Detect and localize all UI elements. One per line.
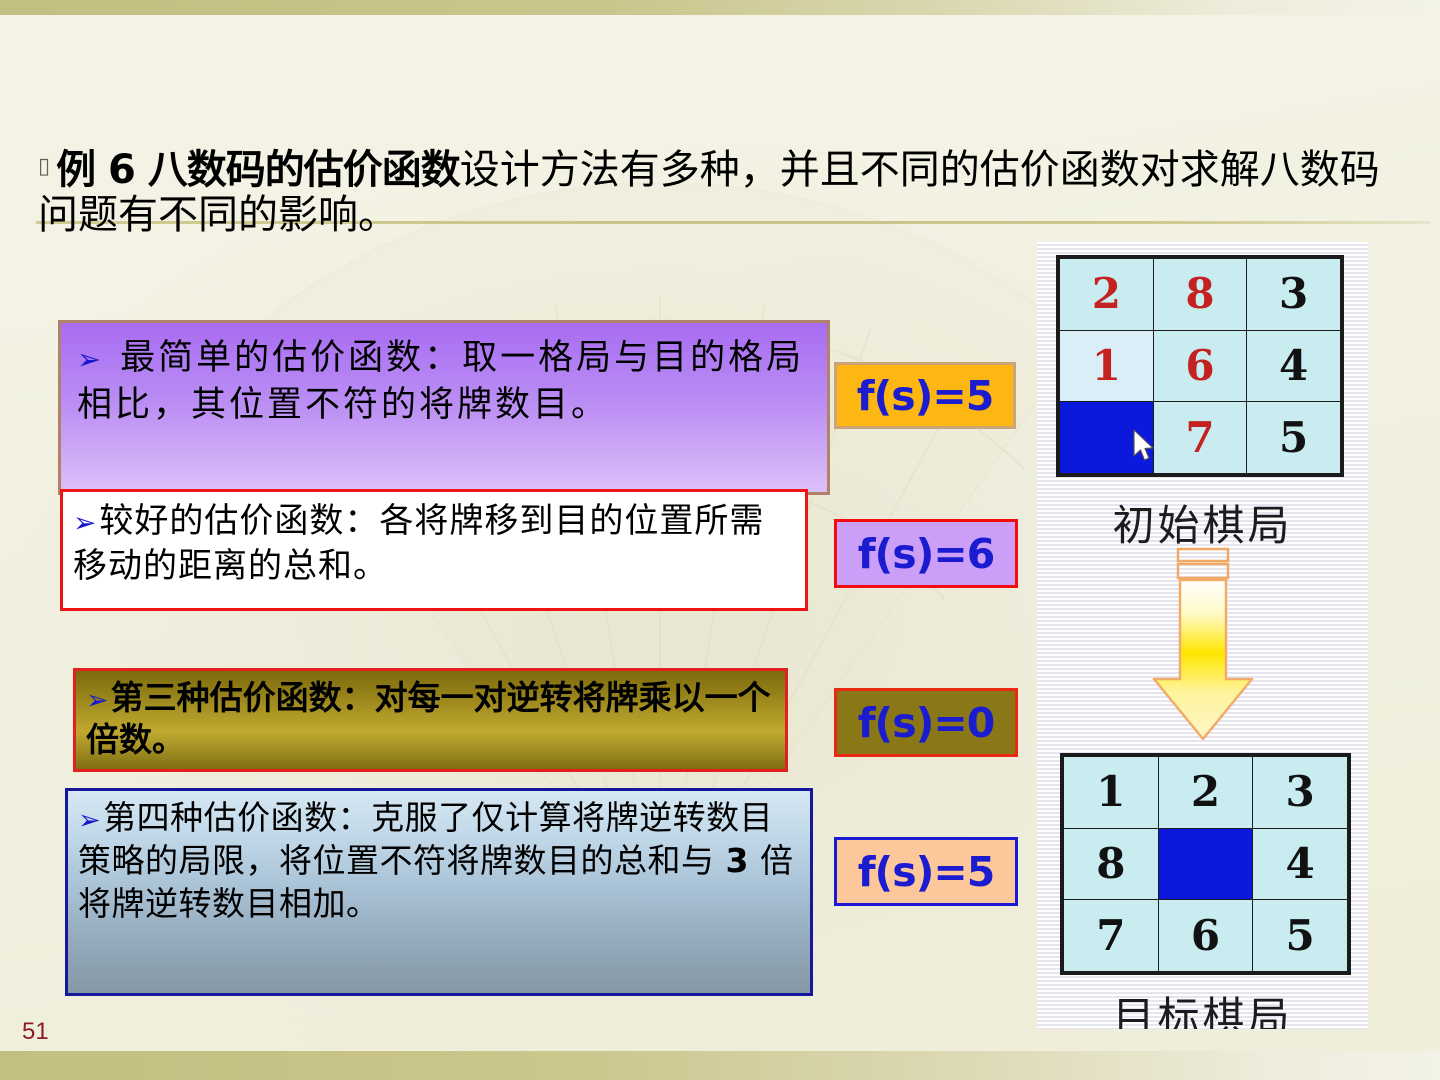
- puzzle-cell: 7: [1154, 402, 1247, 473]
- puzzle-cell: 6: [1154, 331, 1247, 402]
- initial-state-grid: 2 8 3 1 6 4 7 5: [1056, 255, 1344, 477]
- puzzle-cell: 4: [1253, 829, 1347, 900]
- puzzle-cell: 8: [1154, 259, 1247, 330]
- heuristic-box-4-text-a: 第四种估价函数：克服了仅计算将牌逆转数目策略的局限，将位置不符将牌数目的总和与: [78, 798, 773, 880]
- puzzle-cell: 1: [1060, 331, 1153, 402]
- initial-state-caption: 初始棋局: [1037, 492, 1368, 553]
- list-marker-icon: ➢: [77, 342, 104, 376]
- heuristic-box-1-text: 最简单的估价函数：取一格局与目的格局相比，其位置不符的将牌数目。: [77, 338, 804, 425]
- puzzle-cell: 2: [1060, 259, 1153, 330]
- page-title-strong: 例 6 八数码的估价函数: [56, 147, 460, 193]
- fvalue-badge-1[interactable]: f(s)=5: [834, 362, 1016, 429]
- puzzle-cell: 3: [1247, 259, 1340, 330]
- page-number: 51: [22, 1018, 49, 1046]
- slide-canvas: ▯例 6 八数码的估价函数设计方法有多种，并且不同的估价函数对求解八数码问题有不…: [0, 0, 1440, 1080]
- list-marker-icon: ➢: [78, 805, 101, 836]
- heuristic-box-3-text: 第三种估价函数：对每一对逆转将牌乘以一个倍数。: [86, 678, 771, 759]
- heuristic-box-3[interactable]: ➢第三种估价函数：对每一对逆转将牌乘以一个倍数。: [73, 668, 788, 772]
- top-accent-bar: [0, 0, 1440, 15]
- fvalue-badge-3[interactable]: f(s)=0: [834, 688, 1018, 757]
- puzzle-cell: 6: [1159, 900, 1253, 971]
- fvalue-badge-1-text: f(s)=5: [857, 372, 994, 420]
- puzzle-cell: 7: [1064, 900, 1158, 971]
- fvalue-badge-4[interactable]: f(s)=5: [834, 837, 1018, 906]
- heuristic-box-4-multiplier: 3: [726, 841, 749, 880]
- heuristic-box-1[interactable]: ➢ 最简单的估价函数：取一格局与目的格局相比，其位置不符的将牌数目。: [58, 320, 830, 495]
- fvalue-badge-2[interactable]: f(s)=6: [834, 519, 1018, 588]
- bullet-icon: ▯: [38, 154, 50, 179]
- goal-state-grid: 1 2 3 8 4 7 6 5: [1060, 753, 1351, 975]
- fvalue-badge-2-text: f(s)=6: [858, 530, 995, 578]
- down-arrow-icon: [1148, 547, 1258, 745]
- fvalue-badge-4-text: f(s)=5: [858, 848, 995, 896]
- puzzle-cell: 1: [1064, 757, 1158, 828]
- puzzle-cell: 3: [1253, 757, 1347, 828]
- puzzle-cell: 5: [1253, 900, 1347, 971]
- heuristic-box-2-text: 较好的估价函数：各将牌移到目的位置所需移动的距离的总和。: [73, 501, 764, 586]
- goal-state-caption: 目标棋局: [1037, 984, 1368, 1029]
- puzzle-cell: 2: [1159, 757, 1253, 828]
- heuristic-box-2[interactable]: ➢较好的估价函数：各将牌移到目的位置所需移动的距离的总和。: [60, 489, 808, 611]
- page-title: ▯例 6 八数码的估价函数设计方法有多种，并且不同的估价函数对求解八数码问题有不…: [38, 148, 1408, 238]
- bottom-accent-bar: [0, 1051, 1440, 1080]
- fvalue-badge-3-text: f(s)=0: [858, 699, 995, 747]
- heuristic-box-4[interactable]: ➢第四种估价函数：克服了仅计算将牌逆转数目策略的局限，将位置不符将牌数目的总和与…: [65, 788, 813, 996]
- list-marker-icon: ➢: [73, 506, 97, 539]
- puzzle-figure-panel: 2 8 3 1 6 4 7 5 初始棋局: [1037, 242, 1368, 1029]
- puzzle-cell-blank: [1060, 402, 1153, 473]
- puzzle-cell-blank: [1159, 829, 1253, 900]
- list-marker-icon: ➢: [86, 685, 109, 716]
- puzzle-cell: 8: [1064, 829, 1158, 900]
- puzzle-cell: 4: [1247, 331, 1340, 402]
- puzzle-cell: 5: [1247, 402, 1340, 473]
